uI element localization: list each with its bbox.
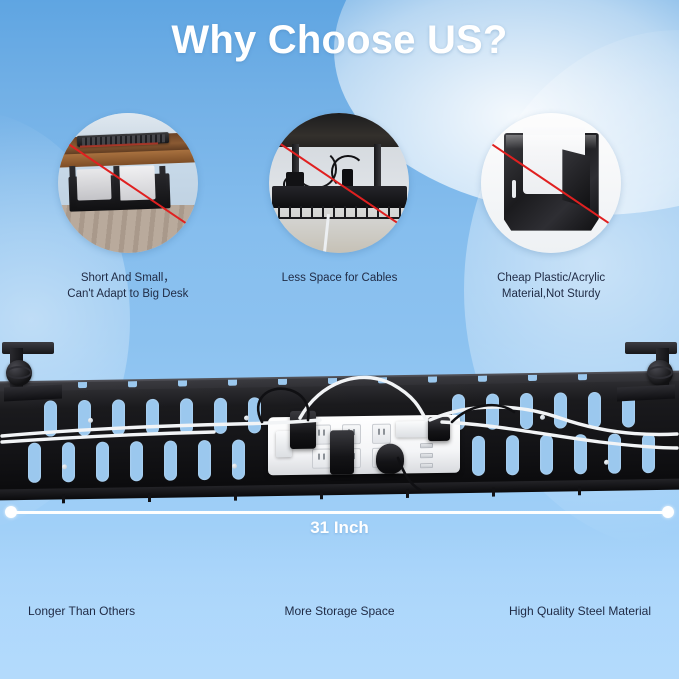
white-plug-wide: [396, 421, 428, 437]
comparison-caption: Less Space for Cables: [282, 270, 398, 286]
power-outlet: [312, 448, 331, 468]
tray-notch: [328, 378, 337, 384]
tray-slot: [472, 436, 485, 476]
tray-notch: [478, 376, 487, 382]
plastic-tray-slot: [512, 180, 516, 198]
dimension-line: [10, 511, 669, 514]
tray-slot: [62, 442, 75, 482]
comparison-item-short-and-small: Short And Small， Can't Adapt to Big Desk: [40, 113, 215, 303]
product-image-cable-tray: [0, 338, 679, 506]
desk-underside: [269, 113, 409, 147]
black-adapter-2: [330, 430, 354, 474]
clamp-plate: [617, 384, 675, 401]
mounting-clamp-left: [0, 338, 64, 408]
hanging-white-cable: [323, 214, 330, 253]
comparison-item-less-space: Less Space for Cables: [252, 113, 427, 286]
tray-slot: [520, 393, 533, 429]
wire-basket: [272, 186, 406, 208]
tray-slot: [96, 442, 109, 482]
tray-slot: [198, 440, 211, 480]
clamp-plate: [4, 384, 62, 401]
tray-slot: [146, 399, 159, 435]
tray-foot-tab: [406, 489, 409, 498]
tray-slot: [248, 397, 261, 433]
power-outlet: [372, 424, 391, 444]
tray-notch: [278, 379, 287, 385]
black-plug-round: [376, 443, 404, 473]
tray-slot: [608, 434, 621, 474]
photo-plastic-u-tray: [481, 113, 621, 253]
black-adapter-1: [290, 411, 316, 449]
tray-slot: [588, 392, 601, 428]
tray-slot: [554, 392, 567, 428]
tray-slot: [540, 435, 553, 475]
tray-rivet: [540, 415, 545, 420]
tray-post-mid: [113, 166, 121, 208]
benefit-more-storage-space: More Storage Space: [236, 604, 444, 618]
clamp-knob-ring: [647, 366, 673, 379]
tray-notch: [428, 376, 437, 382]
tray-slot: [180, 398, 193, 434]
tray-foot-tab: [62, 494, 65, 503]
tray-slot: [164, 441, 177, 481]
mounting-clamp-right: [615, 338, 679, 408]
usb-port: [420, 463, 433, 468]
dimension-endpoint-right: [662, 506, 674, 518]
tray-notch: [78, 382, 87, 388]
power-strip: [268, 415, 460, 476]
benefits-row: Longer Than Others More Storage Space Hi…: [0, 604, 679, 618]
floor: [58, 205, 198, 253]
comparison-caption: Cheap Plastic/Acrylic Material,Not Sturd…: [497, 270, 605, 303]
tray-notch: [578, 374, 587, 380]
tray-slot: [130, 441, 143, 481]
plastic-tray-sheen: [506, 135, 596, 149]
black-adapter-3: [428, 417, 450, 441]
tray-foot-tab: [492, 488, 495, 497]
tray-slot: [642, 433, 655, 473]
tray-notch: [528, 375, 537, 381]
tray-rivet: [88, 418, 93, 423]
tray-slot: [574, 434, 587, 474]
clamp-arm: [625, 342, 677, 354]
tray-notch: [178, 380, 187, 386]
usb-port: [420, 453, 433, 458]
clamp-knob-ring: [6, 366, 32, 379]
tray-notch: [378, 377, 387, 383]
usb-port: [420, 443, 433, 448]
benefit-high-quality-steel: High Quality Steel Material: [443, 604, 651, 618]
tray-foot-tab: [148, 493, 151, 502]
tray-slot: [486, 393, 499, 429]
comparison-item-cheap-plastic: Cheap Plastic/Acrylic Material,Not Sturd…: [464, 113, 639, 303]
tray-foot-tab: [578, 486, 581, 495]
page-title: Why Choose US?: [0, 18, 679, 63]
photo-under-desk-wire-basket: [269, 113, 409, 253]
tray-slot: [214, 398, 227, 434]
comparison-row: Short And Small， Can't Adapt to Big Desk…: [0, 113, 679, 303]
dimension-endpoint-left: [5, 506, 17, 518]
tray-slot: [232, 439, 245, 479]
dimension-label: 31 Inch: [0, 518, 679, 538]
comparison-caption: Short And Small， Can't Adapt to Big Desk: [67, 270, 188, 303]
tray-notch: [228, 380, 237, 386]
photo-desk-with-small-cable-tray: [58, 113, 198, 253]
tray-foot-tab: [234, 492, 237, 501]
tray-slot: [112, 399, 125, 435]
tray-slot: [506, 435, 519, 475]
tray-foot-tab: [320, 490, 323, 499]
tray-notch: [128, 381, 137, 387]
tray-slot: [28, 443, 41, 483]
power-adapter-left: [77, 168, 112, 200]
benefit-longer-than-others: Longer Than Others: [28, 604, 236, 618]
